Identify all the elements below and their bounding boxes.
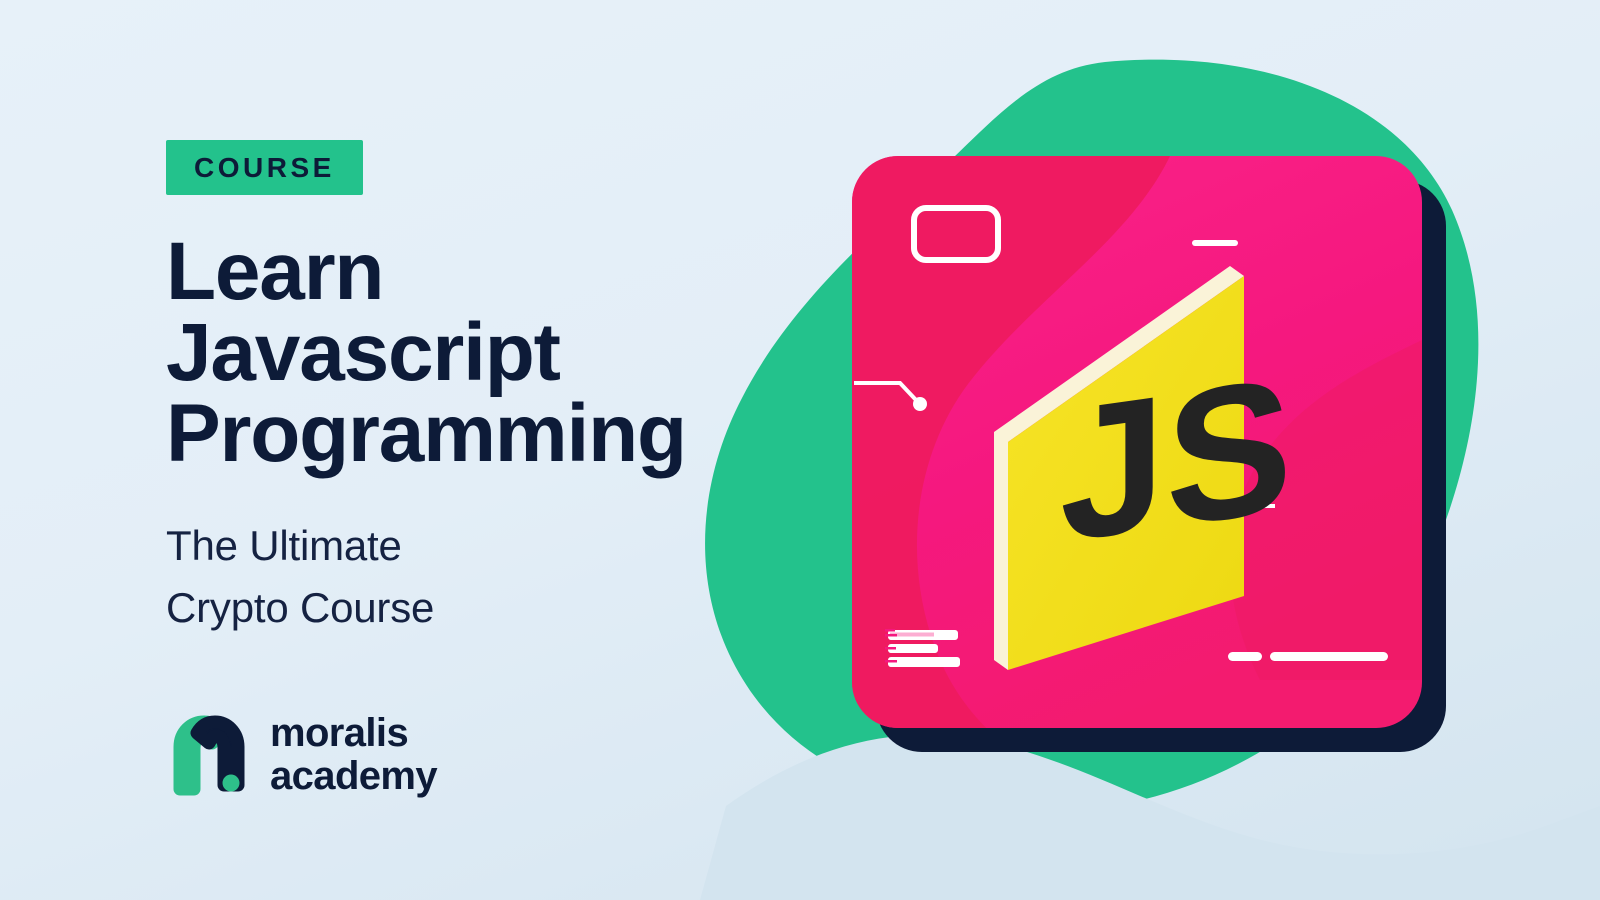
subtitle-line-2: Crypto Course xyxy=(166,577,766,639)
javascript-card-artwork: JS xyxy=(700,40,1600,860)
text-column: COURSE Learn Javascript Programming The … xyxy=(166,140,766,639)
bar-decoration-short xyxy=(1228,652,1262,661)
course-badge: COURSE xyxy=(166,140,363,195)
connector-dot-left xyxy=(913,397,927,411)
brand-logo: moralis academy xyxy=(168,712,437,798)
brand-name-line-2: academy xyxy=(270,755,437,798)
dash-decoration-top-right xyxy=(1192,240,1238,246)
page-title: Learn Javascript Programming xyxy=(166,231,766,475)
course-promo-banner: COURSE Learn Javascript Programming The … xyxy=(0,0,1600,900)
brand-name-line-1: moralis xyxy=(270,712,437,755)
brand-wordmark: moralis academy xyxy=(270,712,437,798)
subtitle-line-1: The Ultimate xyxy=(166,515,766,577)
bar-decoration-long xyxy=(1270,652,1388,661)
js-tile-label: JS xyxy=(1060,338,1292,583)
headline-line-2: Javascript xyxy=(166,312,766,393)
headline-line-3: Programming xyxy=(166,393,766,474)
page-subtitle: The Ultimate Crypto Course xyxy=(166,515,766,639)
headline-line-1: Learn xyxy=(166,231,766,312)
moralis-m-mark-icon xyxy=(168,713,252,797)
